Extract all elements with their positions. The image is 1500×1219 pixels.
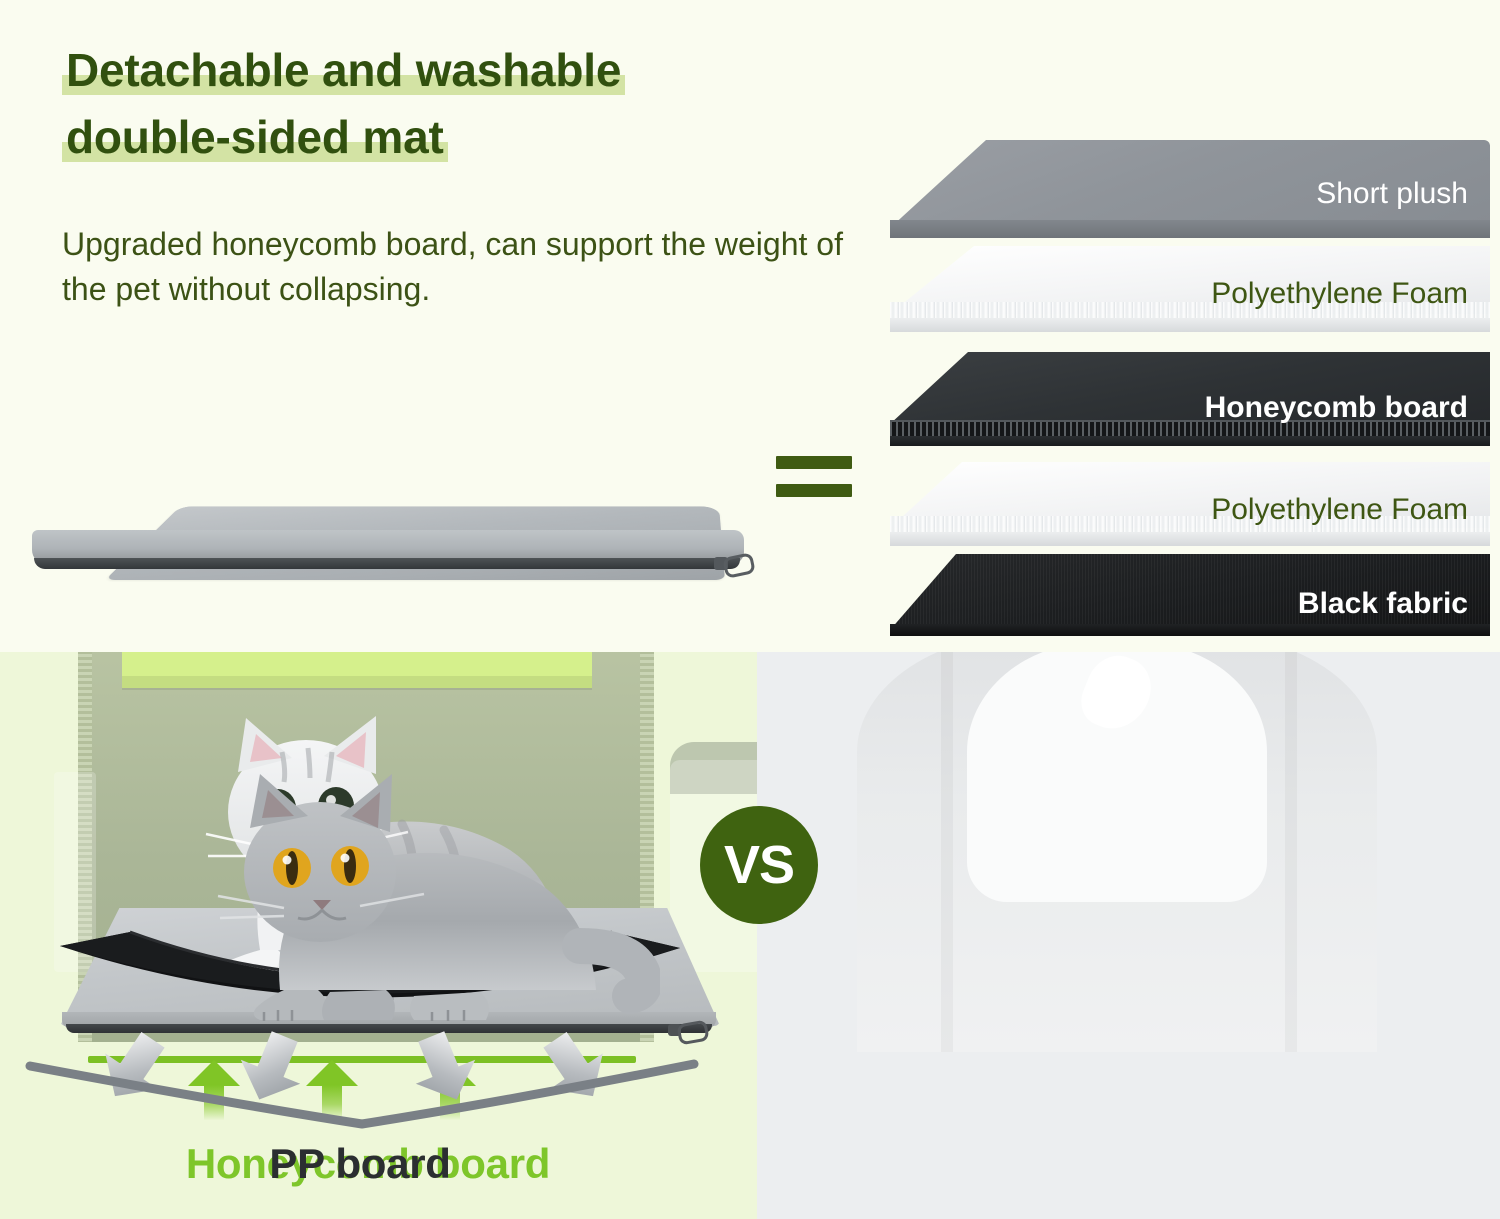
carrier-mesh-shadow [122, 676, 592, 690]
layer-label: Short plush [1316, 177, 1468, 211]
layer-label: Polyethylene Foam [1211, 277, 1468, 311]
subheading-text: Upgraded honeycomb board, can support th… [62, 222, 852, 313]
comparison-panel-pp-board [757, 652, 1500, 1219]
layer-edge [890, 220, 1490, 238]
page-title: Detachable and washable double-sided mat [62, 40, 892, 174]
carrier-rib-right [1285, 652, 1297, 1052]
layer-edge [890, 318, 1490, 332]
carrier-rib-left [941, 652, 953, 1052]
layer-short-plush: Short plush [890, 140, 1490, 248]
headline-line-1-text: Detachable and washable [66, 44, 621, 96]
layer-honeycomb-board: Honeycomb board [890, 352, 1490, 464]
layer-edge [890, 436, 1490, 446]
layer-stack-diagram: Short plush Polyethylene Foam Honeycomb … [890, 140, 1490, 590]
layer-black-fabric: Black fabric [890, 554, 1490, 654]
product-mat-photo [10, 408, 770, 613]
headline-line-1: Detachable and washable [62, 40, 625, 101]
layer-label: Honeycomb board [1205, 391, 1468, 425]
product-infographic: Detachable and washable double-sided mat… [0, 0, 1500, 1219]
headline-line-2-text: double-sided mat [66, 111, 444, 163]
vs-badge: VS [700, 806, 818, 924]
mat-black-base [34, 558, 740, 569]
layer-label: Polyethylene Foam [1211, 493, 1468, 527]
white-pet-carrier [857, 652, 1377, 1052]
gray-british-shorthair-cat-image [160, 740, 660, 1030]
sagging-curve-line [22, 1052, 702, 1142]
layer-polyethylene-foam-bottom: Polyethylene Foam [890, 462, 1490, 557]
layer-label: Black fabric [1298, 587, 1468, 621]
layer-edge [890, 624, 1490, 636]
zipper-pull-icon [708, 553, 750, 577]
layer-polyethylene-foam-top: Polyethylene Foam [890, 246, 1490, 341]
vs-label: VS [724, 838, 794, 892]
equals-sign-icon [776, 456, 852, 506]
pp-board-label: PP board [60, 1140, 660, 1188]
layer-edge [890, 532, 1490, 546]
top-section: Detachable and washable double-sided mat… [0, 0, 1500, 652]
headline-line-2: double-sided mat [62, 107, 448, 168]
